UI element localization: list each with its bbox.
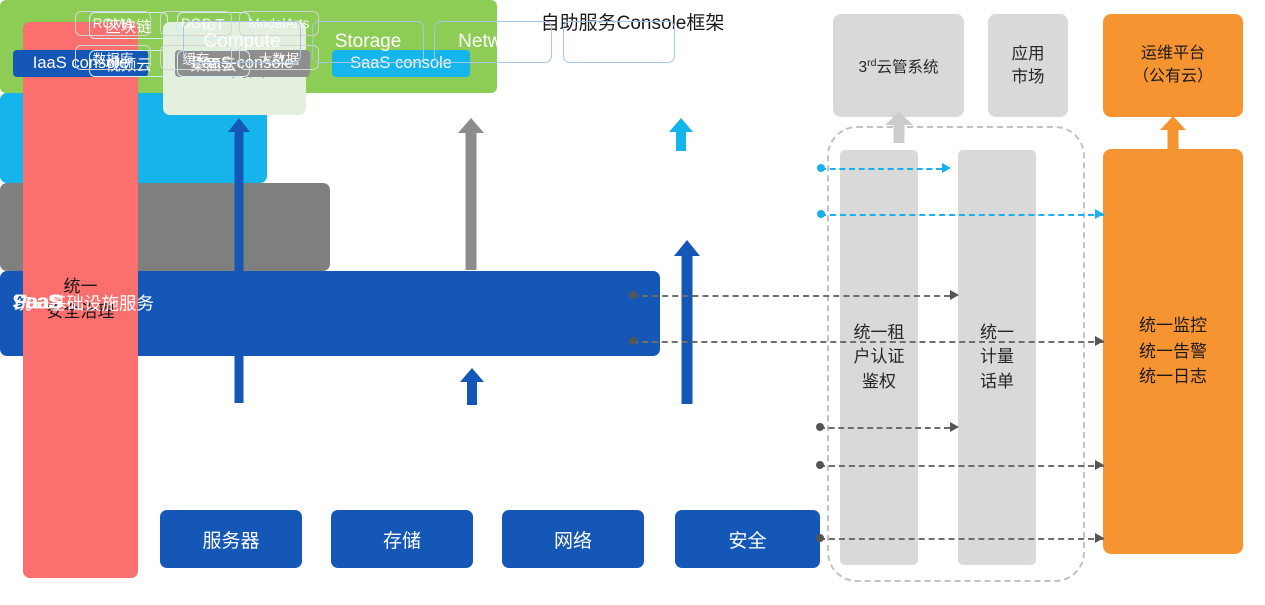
- architecture-diagram: 统一 安全治理 API网关 自助服务Console框架 IaaS console…: [0, 0, 1265, 605]
- dashed-arrowhead-paas-auth: [950, 290, 959, 300]
- dashed-arrowhead-saas-auth: [942, 163, 951, 173]
- infra-tile-cce[interactable]: CCE: [563, 21, 675, 63]
- arrow-infra-to-saas: [674, 240, 700, 403]
- arrow-shared-to-third-cloud: [885, 112, 913, 142]
- resource-box-storage[interactable]: 存储: [331, 510, 473, 568]
- dashed-line-resources-to-monitor: [819, 538, 1104, 540]
- infrastructure-label: 统一基础设施服务: [14, 290, 154, 315]
- dashed-line-infra-to-auth: [819, 427, 950, 429]
- unified-tenant-auth-column: 统一租 户认证 鉴权: [840, 150, 918, 565]
- dashed-line-saas-to-auth: [820, 168, 942, 170]
- dashed-dot-resources-monitor: [816, 534, 824, 542]
- dashed-arrowhead-saas-monitor: [1095, 209, 1104, 219]
- arrow-paas-to-console: [458, 118, 484, 270]
- infra-tile-storage[interactable]: Storage: [312, 21, 424, 63]
- dashed-line-saas-to-monitor: [820, 214, 1104, 216]
- dashed-arrowhead-resources-monitor: [1095, 533, 1104, 543]
- paas-tile-database[interactable]: 数据库: [75, 45, 151, 70]
- infra-tile-network[interactable]: Network: [434, 21, 552, 63]
- ops-monitor-column: 统一监控 统一告警 统一日志: [1103, 149, 1243, 554]
- dashed-line-paas-to-monitor: [632, 341, 1104, 343]
- dashed-line-paas-to-auth: [632, 295, 950, 297]
- dashed-dot-saas-monitor: [817, 210, 825, 218]
- dashed-dot-saas-auth: [817, 164, 825, 172]
- app-market-box: 应用 市场: [988, 14, 1068, 117]
- resource-box-network[interactable]: 网络: [502, 510, 644, 568]
- dashed-arrowhead-paas-monitor: [1095, 336, 1104, 346]
- dashed-dot-paas-monitor: [629, 337, 637, 345]
- arrow-infra-to-api-gateway: [228, 118, 250, 403]
- dashed-arrowhead-infra-monitor: [1095, 460, 1104, 470]
- arrow-monitor-to-ops-platform: [1160, 116, 1186, 152]
- paas-tile-roma[interactable]: ROMA: [75, 11, 151, 36]
- dashed-dot-paas-auth: [629, 291, 637, 299]
- dashed-arrowhead-infra-auth: [950, 422, 959, 432]
- ops-platform-box: 运维平台 （公有云）: [1103, 14, 1243, 117]
- dashed-dot-infra-monitor: [816, 461, 824, 469]
- third-party-cloud-management-box: 3rd云管系统: [833, 14, 964, 117]
- infra-tile-compute[interactable]: Compute: [183, 21, 301, 63]
- arrow-infra-to-paas: [460, 368, 484, 404]
- third-cloud-prefix: 3: [858, 59, 867, 76]
- arrow-saas-to-console: [669, 118, 693, 150]
- resource-box-server[interactable]: 服务器: [160, 510, 302, 568]
- dashed-line-infra-to-monitor: [819, 465, 1104, 467]
- dashed-dot-infra-auth: [816, 423, 824, 431]
- third-cloud-suffix: 云管系统: [876, 59, 938, 76]
- unified-metering-column: 统一 计量 话单: [958, 150, 1036, 565]
- resource-box-security[interactable]: 安全: [675, 510, 820, 568]
